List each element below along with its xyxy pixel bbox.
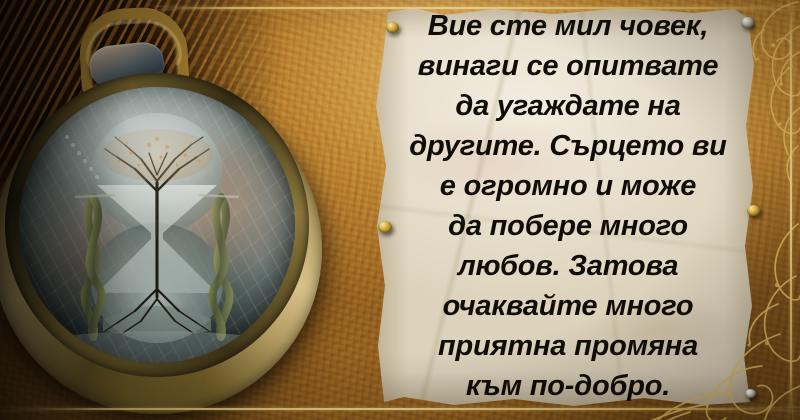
right-gold-rule xyxy=(790,0,792,420)
mid-left-pin-icon xyxy=(378,221,392,233)
quote-line: към по-добро. xyxy=(466,366,670,406)
quote-line: любов. Затова xyxy=(458,246,679,286)
quote-poster: Вие сте мил човек, винаги се опитвате да… xyxy=(0,0,800,420)
bottom-right-pin-icon xyxy=(745,389,756,398)
quote-line: Вие сте мил човек, xyxy=(428,6,709,46)
quote-line: винаги се опитвате xyxy=(418,46,719,86)
quote-text-block: Вие сте мил човек, винаги се опитвате да… xyxy=(382,24,754,388)
watch-crystal-dial xyxy=(19,87,295,363)
quote-line: приятна промяна xyxy=(438,326,698,366)
mid-right-pin-icon xyxy=(747,205,760,216)
pocket-watch-illustration xyxy=(0,60,344,412)
quote-line: да угаждате на xyxy=(455,86,680,126)
quote-line: е огромно и може xyxy=(440,166,696,206)
quote-line: очаквайте много xyxy=(443,286,694,326)
hourglass-tree-of-life-icon xyxy=(19,87,295,363)
bottom-gold-rule xyxy=(0,408,800,410)
top-left-pin-icon xyxy=(386,22,399,33)
quote-line: да побере много xyxy=(448,206,688,246)
quote-line: другите. Сърцето ви xyxy=(409,126,726,166)
top-right-pin-icon xyxy=(741,17,754,28)
